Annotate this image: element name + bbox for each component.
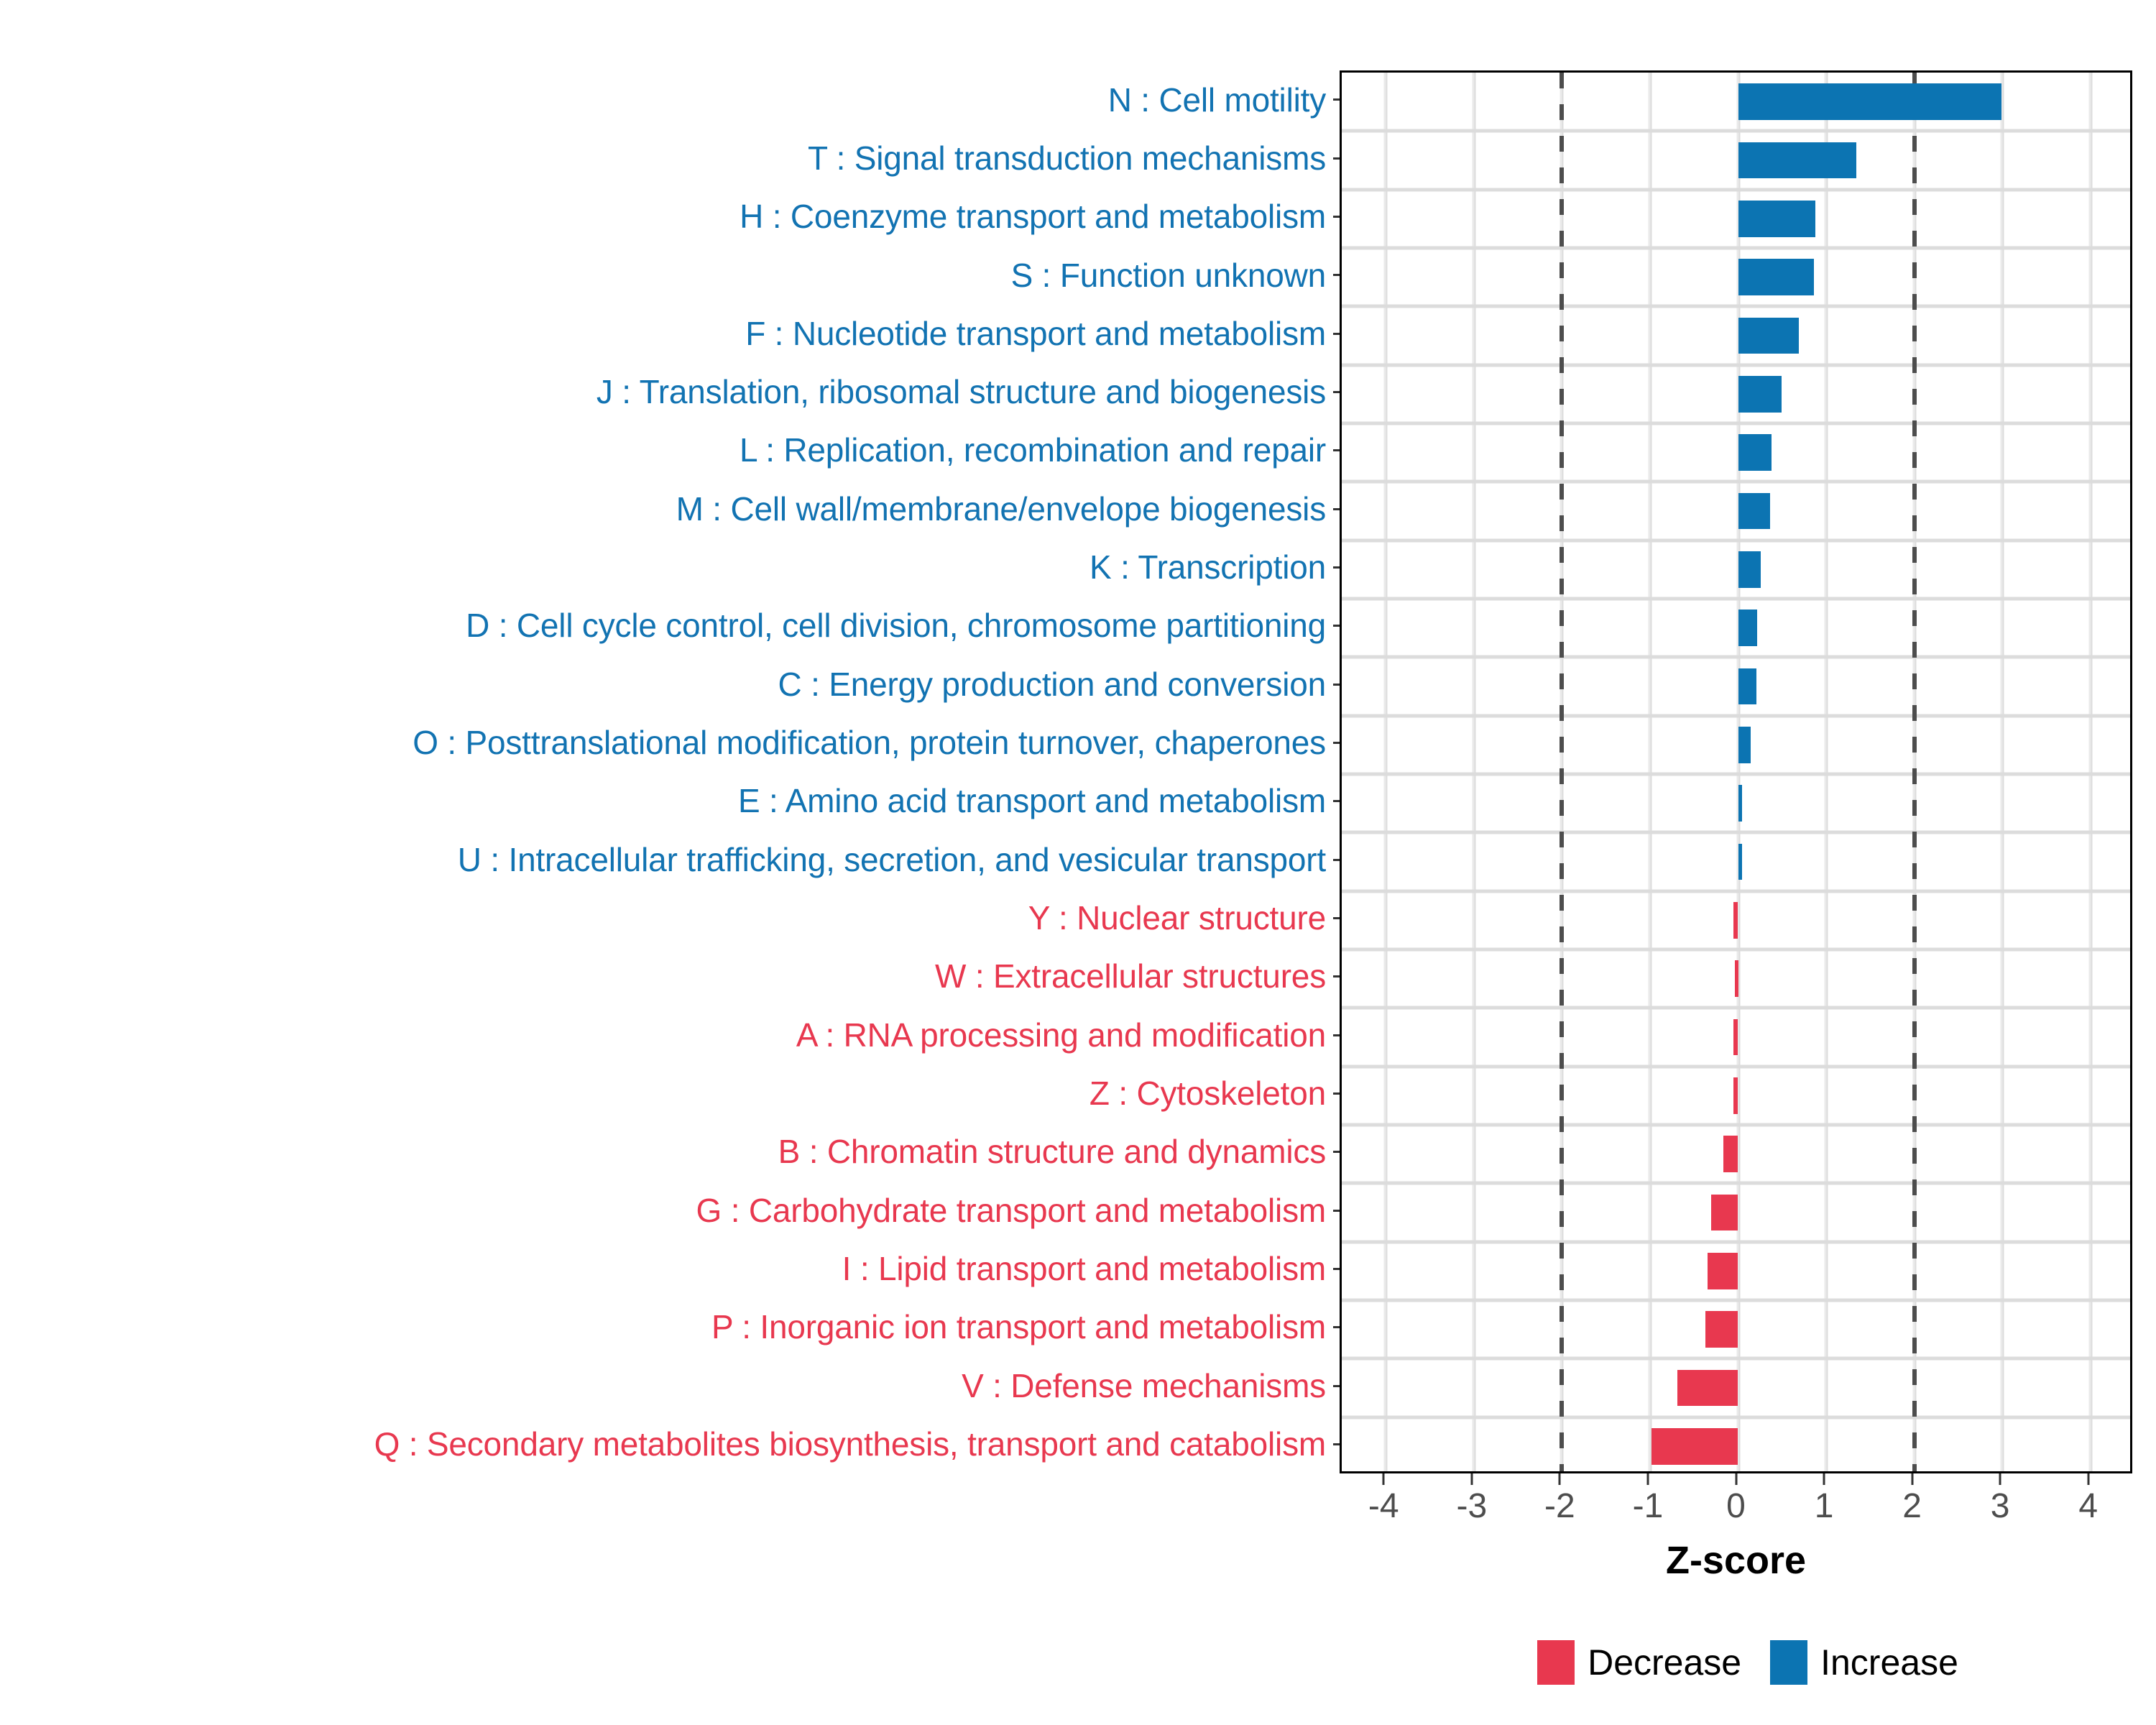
horizontal-gridline (1342, 305, 2130, 308)
category-label: W : Extracellular structures (935, 959, 1326, 993)
x-axis-tick (1735, 1473, 1737, 1485)
category-label: I : Lipid transport and metabolism (842, 1251, 1326, 1286)
x-axis-tick-label: -1 (1633, 1486, 1664, 1526)
x-axis-tick (1470, 1473, 1473, 1485)
horizontal-gridline (1342, 422, 2130, 425)
horizontal-gridline (1342, 188, 2130, 191)
category-label: N : Cell motility (1108, 83, 1326, 117)
bar (1738, 493, 1770, 529)
horizontal-gridline (1342, 714, 2130, 717)
horizontal-gridline (1342, 1299, 2130, 1302)
category-label-row: Y : Nuclear structure (0, 889, 1333, 947)
x-axis-tick (1823, 1473, 1825, 1485)
y-axis-tick (1333, 975, 1340, 977)
category-label-row: G : Carbohydrate transport and metabolis… (0, 1181, 1333, 1239)
bar (1738, 844, 1742, 880)
category-label: K : Transcription (1089, 550, 1326, 584)
y-axis-tick (1333, 1268, 1340, 1270)
legend-color-swatch (1770, 1640, 1807, 1685)
y-axis-tick (1333, 1151, 1340, 1153)
bar (1651, 1428, 1738, 1464)
category-label: A : RNA processing and modification (796, 1018, 1326, 1052)
category-label: D : Cell cycle control, cell division, c… (466, 608, 1326, 643)
bar (1738, 434, 1772, 470)
horizontal-gridline (1342, 1064, 2130, 1068)
bar (1738, 609, 1758, 645)
x-axis-tick-label: 2 (1902, 1486, 1922, 1526)
y-axis-tick (1333, 1443, 1340, 1445)
bar (1677, 1370, 1738, 1406)
x-axis-tick (1559, 1473, 1561, 1485)
legend-label: Increase (1820, 1642, 1958, 1683)
x-axis-tick-label: 1 (1815, 1486, 1834, 1526)
y-axis-tick (1333, 508, 1340, 510)
horizontal-gridline (1342, 1006, 2130, 1010)
category-label-row: Q : Secondary metabolites biosynthesis, … (0, 1415, 1333, 1473)
y-axis-tick (1333, 157, 1340, 160)
category-label: P : Inorganic ion transport and metaboli… (711, 1310, 1326, 1344)
category-label-row: J : Translation, ribosomal structure and… (0, 363, 1333, 421)
category-label: C : Energy production and conversion (778, 667, 1326, 701)
category-label-row: H : Coenzyme transport and metabolism (0, 188, 1333, 246)
horizontal-gridline (1342, 831, 2130, 834)
bar (1738, 785, 1742, 821)
y-axis-tick (1333, 800, 1340, 802)
y-axis-tick-marks (1333, 70, 1340, 1473)
horizontal-gridline (1342, 129, 2130, 133)
bar (1738, 551, 1761, 587)
chart-legend: DecreaseIncrease (1340, 1630, 2156, 1695)
bar (1708, 1253, 1738, 1289)
legend-color-swatch (1537, 1640, 1575, 1685)
legend-item[interactable]: Decrease (1537, 1640, 1741, 1685)
bar (1735, 960, 1738, 996)
category-label: T : Signal transduction mechanisms (808, 141, 1326, 175)
bar (1738, 142, 1856, 178)
legend-label: Decrease (1588, 1642, 1741, 1683)
category-label-row: V : Defense mechanisms (0, 1356, 1333, 1414)
category-label-row: W : Extracellular structures (0, 947, 1333, 1006)
y-axis-tick (1333, 917, 1340, 919)
category-label: E : Amino acid transport and metabolism (738, 783, 1326, 818)
bar (1733, 1019, 1738, 1055)
horizontal-gridline (1342, 889, 2130, 893)
y-axis-tick (1333, 742, 1340, 744)
category-label: G : Carbohydrate transport and metabolis… (696, 1193, 1326, 1228)
y-axis-tick (1333, 1034, 1340, 1036)
category-label: H : Coenzyme transport and metabolism (740, 199, 1326, 234)
category-label-row: P : Inorganic ion transport and metaboli… (0, 1298, 1333, 1356)
bar (1738, 259, 1814, 295)
horizontal-gridline (1342, 1415, 2130, 1419)
bar (1738, 83, 2001, 119)
horizontal-gridline (1342, 538, 2130, 542)
x-axis-tick (1646, 1473, 1649, 1485)
horizontal-gridline (1342, 773, 2130, 776)
horizontal-gridline (1342, 1182, 2130, 1185)
y-axis-tick (1333, 1210, 1340, 1212)
x-axis-tick-label: 4 (2078, 1486, 2098, 1526)
category-label-row: K : Transcription (0, 538, 1333, 597)
category-label: J : Translation, ribosomal structure and… (596, 374, 1326, 409)
y-axis-tick (1333, 1092, 1340, 1095)
plot-panel (1340, 70, 2132, 1473)
horizontal-gridline (1342, 1357, 2130, 1361)
category-label-row: S : Function unknown (0, 246, 1333, 304)
category-label-row: B : Chromatin structure and dynamics (0, 1123, 1333, 1181)
category-label: U : Intracellular trafficking, secretion… (458, 842, 1326, 877)
x-axis-tick-label: -2 (1544, 1486, 1575, 1526)
cog-zscore-bar-chart: N : Cell motilityT : Signal transduction… (0, 0, 2156, 1725)
y-axis-tick (1333, 333, 1340, 335)
threshold-dashed-line (1560, 73, 1564, 1471)
category-label-row: I : Lipid transport and metabolism (0, 1240, 1333, 1298)
horizontal-gridline (1342, 247, 2130, 250)
category-label: B : Chromatin structure and dynamics (778, 1134, 1326, 1169)
category-label-row: E : Amino acid transport and metabolism (0, 772, 1333, 830)
horizontal-gridline (1342, 948, 2130, 952)
bar (1723, 1136, 1738, 1172)
category-label-row: N : Cell motility (0, 70, 1333, 129)
y-axis-tick (1333, 391, 1340, 393)
bar (1738, 318, 1800, 354)
x-axis-tick-label: 0 (1726, 1486, 1746, 1526)
horizontal-gridline (1342, 363, 2130, 367)
x-axis-tick-label: -4 (1368, 1486, 1399, 1526)
bar (1705, 1311, 1738, 1347)
bar (1733, 902, 1738, 938)
y-axis-tick (1333, 1385, 1340, 1387)
horizontal-gridline (1342, 1123, 2130, 1127)
y-axis-tick (1333, 859, 1340, 861)
bar (1738, 727, 1751, 763)
category-label-row: F : Nucleotide transport and metabolism (0, 304, 1333, 362)
category-label: M : Cell wall/membrane/envelope biogenes… (676, 492, 1326, 526)
category-label-row: U : Intracellular trafficking, secretion… (0, 830, 1333, 888)
y-axis-tick (1333, 625, 1340, 627)
horizontal-gridline (1342, 655, 2130, 659)
threshold-dashed-line (1912, 73, 1917, 1471)
y-axis-tick (1333, 274, 1340, 276)
category-label-row: A : RNA processing and modification (0, 1006, 1333, 1064)
bar (1711, 1195, 1738, 1230)
category-label: V : Defense mechanisms (962, 1368, 1326, 1403)
x-axis-title: Z-score (1340, 1538, 2132, 1583)
x-axis-tick (1383, 1473, 1385, 1485)
category-label-row: L : Replication, recombination and repai… (0, 421, 1333, 479)
category-label: S : Function unknown (1011, 258, 1326, 293)
x-axis-tick-label: -3 (1456, 1486, 1487, 1526)
category-label: O : Posttranslational modification, prot… (413, 725, 1326, 760)
category-label: Y : Nuclear structure (1028, 901, 1326, 935)
x-axis-tick (1911, 1473, 1913, 1485)
category-label-row: O : Posttranslational modification, prot… (0, 714, 1333, 772)
category-axis-labels: N : Cell motilityT : Signal transduction… (0, 70, 1333, 1473)
x-axis-tick-label: 3 (1991, 1486, 2010, 1526)
y-axis-tick (1333, 449, 1340, 451)
category-label: Q : Secondary metabolites biosynthesis, … (374, 1427, 1326, 1461)
bar (1738, 376, 1782, 412)
category-label-row: T : Signal transduction mechanisms (0, 129, 1333, 187)
category-label-row: M : Cell wall/membrane/envelope biogenes… (0, 479, 1333, 538)
bar (1733, 1077, 1738, 1113)
category-label: L : Replication, recombination and repai… (740, 433, 1326, 467)
y-axis-tick (1333, 566, 1340, 569)
y-axis-tick (1333, 684, 1340, 686)
y-axis-tick (1333, 98, 1340, 101)
category-label-row: D : Cell cycle control, cell division, c… (0, 597, 1333, 655)
horizontal-gridline (1342, 1240, 2130, 1243)
y-axis-tick (1333, 216, 1340, 218)
x-axis-tick (2087, 1473, 2089, 1485)
bar (1738, 201, 1816, 236)
horizontal-gridline (1342, 597, 2130, 601)
category-label: Z : Cytoskeleton (1089, 1076, 1326, 1110)
category-label-row: C : Energy production and conversion (0, 655, 1333, 713)
category-label: F : Nucleotide transport and metabolism (745, 316, 1326, 351)
y-axis-tick (1333, 1326, 1340, 1328)
x-axis-tick (1999, 1473, 2001, 1485)
category-label-row: Z : Cytoskeleton (0, 1064, 1333, 1123)
bar (1738, 668, 1757, 704)
legend-item[interactable]: Increase (1770, 1640, 1958, 1685)
horizontal-gridline (1342, 480, 2130, 484)
